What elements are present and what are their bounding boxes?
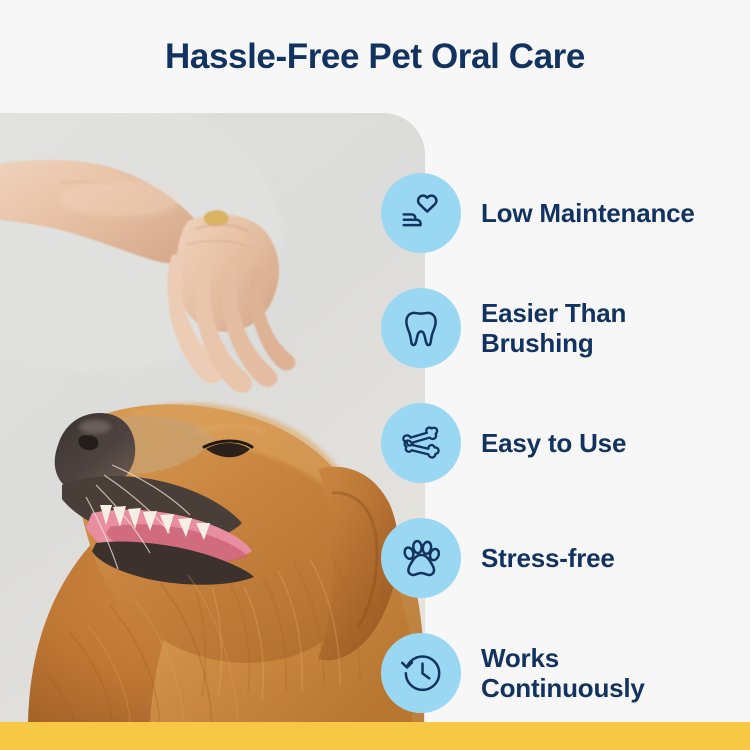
- feature-icon-circle: [381, 633, 461, 713]
- feature-item-works-continuously[interactable]: Works Continuously: [381, 615, 750, 730]
- feature-label: Low Maintenance: [481, 198, 695, 228]
- feature-label: Easier Than Brushing: [481, 298, 711, 358]
- feature-label: Easy to Use: [481, 428, 626, 458]
- feature-label: Stress-free: [481, 543, 615, 573]
- bottom-accent-bar: [0, 722, 750, 750]
- header: Hassle-Free Pet Oral Care: [0, 0, 750, 113]
- feature-item-easier-than-brushing[interactable]: Easier Than Brushing: [381, 270, 750, 385]
- heart-in-hand-icon: [398, 190, 444, 236]
- feature-icon-circle: [381, 288, 461, 368]
- feature-icon-circle: [381, 173, 461, 253]
- paw-print-icon: [398, 535, 444, 581]
- clock-refresh-icon: [398, 650, 444, 696]
- infographic-canvas: Hassle-Free Pet Oral Care: [0, 0, 750, 750]
- page-title: Hassle-Free Pet Oral Care: [165, 37, 585, 77]
- tooth-icon: [398, 305, 444, 351]
- feature-list: Low Maintenance Easier Than Brushing: [381, 155, 750, 730]
- dog-photo: [0, 113, 425, 722]
- photo-panel: [0, 113, 425, 722]
- feature-item-stress-free[interactable]: Stress-free: [381, 500, 750, 615]
- feature-item-easy-to-use[interactable]: Easy to Use: [381, 385, 750, 500]
- crossed-bones-icon: [398, 420, 444, 466]
- feature-label: Works Continuously: [481, 643, 711, 703]
- feature-icon-circle: [381, 518, 461, 598]
- feature-icon-circle: [381, 403, 461, 483]
- feature-item-low-maintenance[interactable]: Low Maintenance: [381, 155, 750, 270]
